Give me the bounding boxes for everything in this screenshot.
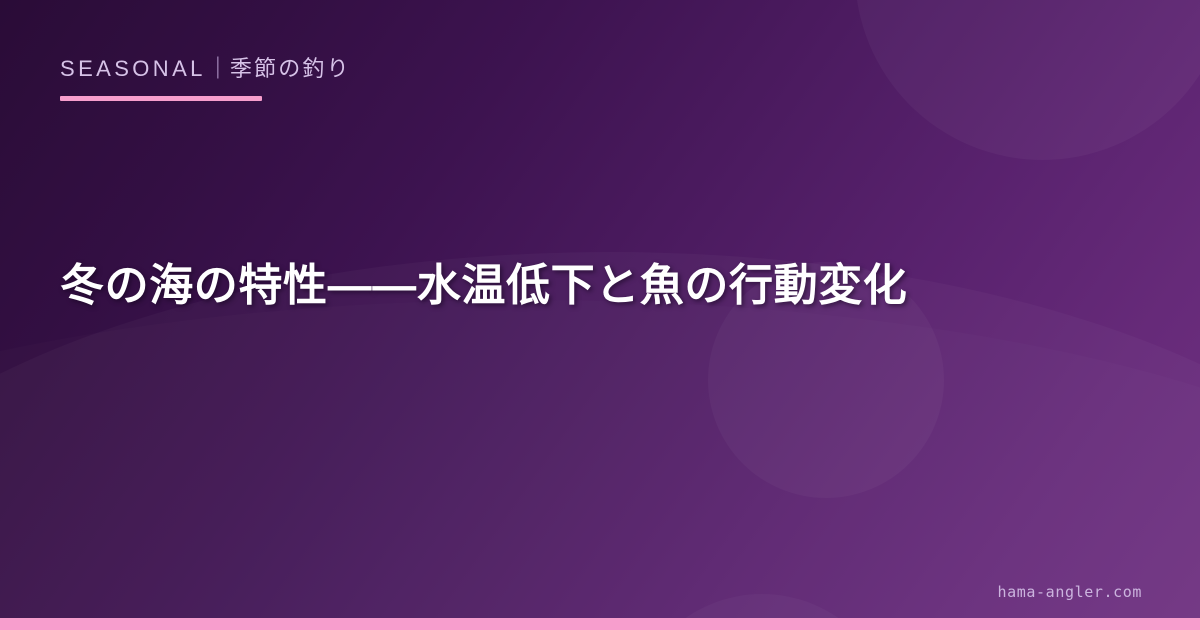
og-banner: SEASONAL ｜ 季節の釣り 冬の海の特性——水温低下と魚の行動変化 ham… bbox=[0, 0, 1200, 630]
banner-content: SEASONAL ｜ 季節の釣り 冬の海の特性——水温低下と魚の行動変化 ham… bbox=[0, 0, 1200, 630]
bottom-accent-bar bbox=[0, 618, 1200, 630]
kicker-category: 季節の釣り bbox=[230, 56, 351, 82]
kicker: SEASONAL ｜ 季節の釣り bbox=[60, 56, 351, 82]
kicker-separator-icon: ｜ bbox=[207, 56, 229, 82]
kicker-eyebrow: SEASONAL bbox=[60, 56, 206, 82]
site-url: hama-angler.com bbox=[998, 583, 1142, 601]
page-title: 冬の海の特性——水温低下と魚の行動変化 bbox=[60, 255, 1140, 317]
accent-underline bbox=[60, 96, 262, 101]
